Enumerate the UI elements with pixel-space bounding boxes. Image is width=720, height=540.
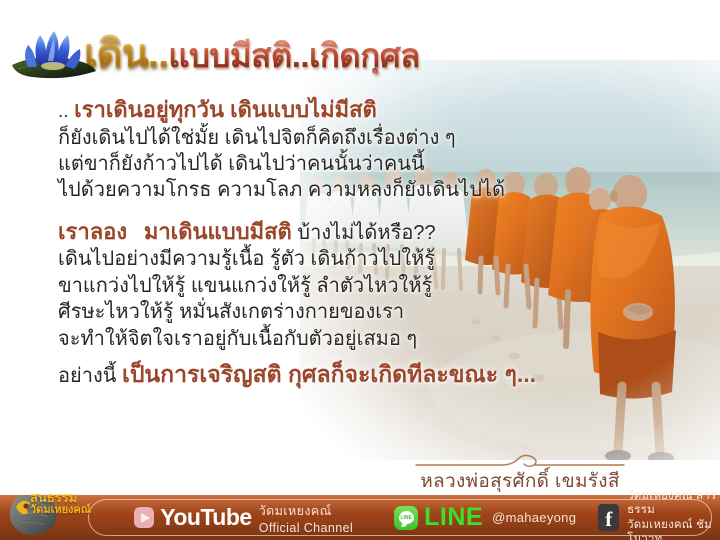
- line-bubble-label: LINE: [399, 511, 414, 524]
- paragraph-line-10: อย่างนี้ เป็นการเจริญสติ กุศลก็จะเกิดทีล…: [58, 360, 658, 390]
- highlight-phrase-1: เราเดินอยู่ทุกวัน เดินแบบไม่มีสติ: [74, 97, 377, 122]
- line-wordmark: LINE: [424, 503, 483, 532]
- brand-line-1: สนธรรม: [30, 491, 91, 505]
- leading-dots: ..: [58, 101, 69, 122]
- facebook-f-icon: f: [598, 504, 619, 531]
- closing-highlight: เป็นการเจริญสติ กุศลก็จะเกิดทีละขณะ ๆ...: [122, 361, 536, 387]
- line-chat-icon: LINE: [394, 506, 418, 530]
- body-copy: .. เราเดินอยู่ทุกวัน เดินแบบไม่มีสติ ก็ย…: [58, 96, 658, 390]
- facebook-page-1: วัดมเหยงคณ์ สารธรรม: [627, 489, 720, 518]
- paragraph-line-6: เดินไปอย่างมีความรู้เนื้อ รู้ตัว เดินก้า…: [58, 246, 658, 272]
- closing-prefix: อย่างนี้: [58, 365, 116, 387]
- brand-line-2: วัดมเหยงคณ์: [30, 505, 91, 517]
- paragraph-line-3: แต่ขาก็ยังก้าวไปได้ เดินไปว่าคนนั้นว่าคน…: [58, 151, 658, 177]
- line-account-id: @mahaeyong: [492, 510, 576, 525]
- paragraph-line-4: ไปด้วยความโกรธ ความโลภ ความหลงก็ยังเดินไ…: [58, 177, 658, 203]
- blue-lotus-flower-icon: [8, 25, 100, 81]
- paragraph-line-9: จะทำให้จิตใจเราอยู่กับเนื้อกับตัวอยู่เสม…: [58, 326, 658, 352]
- paragraph-line-8: ศีรษะไหวให้รู้ หมั่นสังเกตร่างกายของเรา: [58, 299, 658, 325]
- slide-canvas: เดิน..แบบมีสติ..เกิดกุศล .. เราเดินอยู่ท…: [0, 0, 720, 540]
- facebook-link[interactable]: f วัดมเหยงคณ์ สารธรรม วัดมเหยงคณ์ ชัมโมว…: [598, 489, 720, 540]
- bottom-social-bar: สนธรรม วัดมเหยงคณ์ YouTube วัดมเหยงคณ์ O…: [0, 495, 720, 540]
- youtube-link[interactable]: YouTube วัดมเหยงคณ์ Official Channel: [134, 501, 374, 535]
- highlight-phrase-2b: มาเดินแบบมีสติ: [144, 219, 292, 244]
- facebook-page-2: วัดมเหยงคณ์ ชัมโมวาท: [627, 518, 720, 540]
- youtube-wordmark: YouTube: [160, 504, 251, 531]
- facebook-pages: วัดมเหยงคณ์ สารธรรม วัดมเหยงคณ์ ชัมโมวาท: [627, 489, 720, 540]
- highlight-phrase-2a: เราลอง: [58, 219, 127, 244]
- youtube-channel-name: วัดมเหยงคณ์ Official Channel: [259, 501, 374, 535]
- closing-spacer: [58, 352, 658, 360]
- paragraph-spacer: [58, 204, 658, 218]
- line-bubble-shape: LINE: [399, 511, 414, 524]
- title-sub-text: แบบมีสติ..เกิดกุศล: [168, 37, 420, 74]
- youtube-play-icon: [134, 507, 154, 528]
- facebook-f-glyph: f: [605, 509, 612, 530]
- paragraph-line-1: .. เราเดินอยู่ทุกวัน เดินแบบไม่มีสติ: [58, 96, 658, 125]
- social-links-row: YouTube วัดมเหยงคณ์ Official Channel LIN…: [0, 495, 720, 540]
- youtube-triangle: [141, 513, 150, 523]
- brand-logo[interactable]: สนธรรม วัดมเหยงคณ์: [4, 489, 108, 539]
- line-5-tail: บ้างไม่ได้หรือ??: [297, 222, 435, 244]
- paragraph-line-5: เราลอง มาเดินแบบมีสติ บ้างไม่ได้หรือ??: [58, 218, 658, 247]
- slide-header: เดิน..แบบมีสติ..เกิดกุศล: [8, 22, 420, 84]
- line-app-link[interactable]: LINE LINE @mahaeyong: [394, 503, 576, 532]
- slide-title: เดิน..แบบมีสติ..เกิดกุศล: [84, 21, 420, 85]
- paragraph-line-7: ขาแกว่งไปให้รู้ แขนแกว่งให้รู้ ลำตัวไหวใ…: [58, 273, 658, 299]
- attribution: หลวงพ่อสุรศักดิ์ เขมรังสี: [412, 452, 628, 496]
- teacher-name: หลวงพ่อสุรศักดิ์ เขมรังสี: [412, 466, 628, 496]
- paragraph-line-2: ก็ยังเดินไปได้ใช่มั้ย เดินไปจิตก็คิดถึงเ…: [58, 125, 658, 151]
